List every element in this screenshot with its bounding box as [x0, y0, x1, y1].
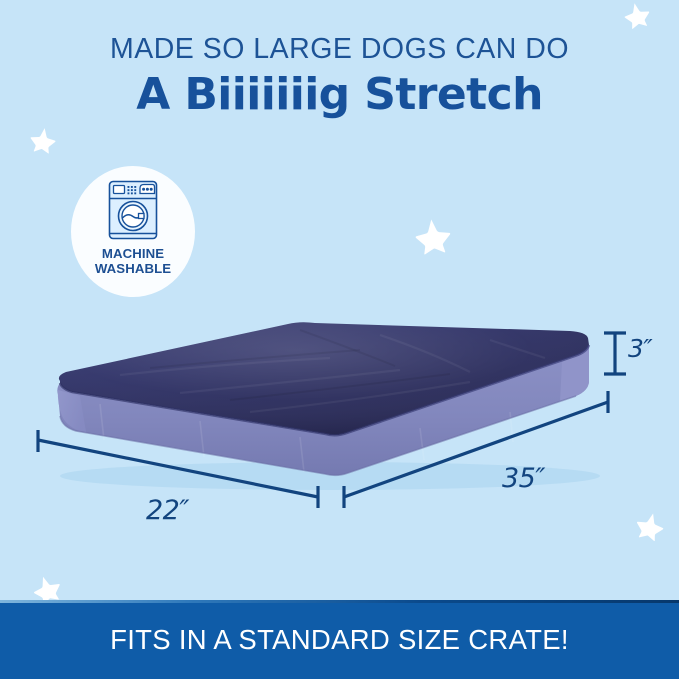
- banner-text: FITS IN A STANDARD SIZE CRATE!: [110, 624, 569, 656]
- dimension-label-height: 3″: [628, 334, 652, 363]
- product-infographic: MADE SO LARGE DOGS CAN DO A Biiiiiiig St…: [0, 0, 679, 679]
- dimension-annotations: 22″ 35″ 3″: [0, 0, 679, 679]
- bottom-banner: FITS IN A STANDARD SIZE CRATE!: [0, 600, 679, 679]
- dimension-label-width: 22″: [146, 495, 189, 526]
- dimension-label-length: 35″: [502, 463, 545, 494]
